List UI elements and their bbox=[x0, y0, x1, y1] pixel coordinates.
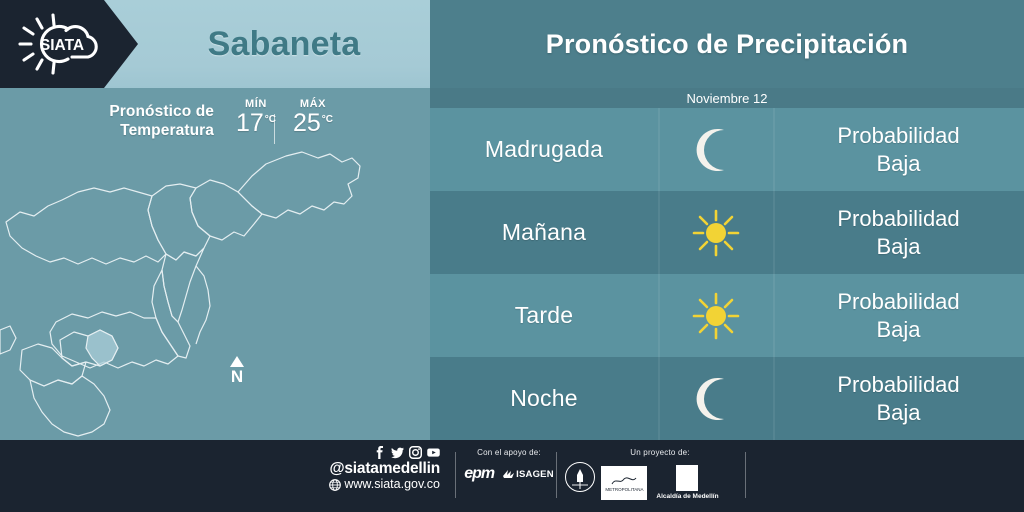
probability-label: ProbabilidadBaja bbox=[837, 371, 959, 427]
precipitation-title: Pronóstico de Precipitación bbox=[430, 0, 1024, 88]
forecast-period-cell: Noche bbox=[430, 357, 658, 440]
svg-text:SIATA: SIATA bbox=[40, 37, 84, 54]
north-arrow-icon bbox=[230, 356, 244, 367]
epm-logo: epm bbox=[464, 465, 494, 483]
support-caption: Con el apoyo de: bbox=[468, 448, 550, 457]
column-divider bbox=[773, 108, 775, 440]
column-divider bbox=[658, 108, 660, 440]
temperature-label: Pronóstico de Temperatura bbox=[62, 102, 214, 140]
temperature-max-value: 25°C bbox=[277, 109, 349, 138]
project-logos: METROPOLITANA Alcaldía de Medellín bbox=[580, 465, 740, 500]
alcaldia-logo: Alcaldía de Medellín bbox=[656, 465, 718, 500]
website-label: www.siata.gov.co bbox=[344, 477, 440, 492]
globe-icon bbox=[329, 479, 341, 491]
probability-label: ProbabilidadBaja bbox=[837, 122, 959, 178]
forecast-period-cell: Tarde bbox=[430, 274, 658, 357]
north-arrow: N bbox=[226, 356, 248, 396]
moon-icon bbox=[690, 124, 742, 176]
sun-icon bbox=[690, 290, 742, 342]
forecast-row: Noche ProbabilidadBaja bbox=[430, 357, 1024, 440]
area-metropolitana-logo: METROPOLITANA bbox=[601, 466, 647, 500]
siata-sun-cloud-logo: SIATA bbox=[10, 11, 116, 77]
left-panel: SIATA Sabaneta Pronóstico de Temperatura… bbox=[0, 0, 430, 440]
support-logos: epm ISAGEN bbox=[468, 465, 550, 483]
forecast-icon-cell bbox=[658, 357, 773, 440]
youtube-icon[interactable] bbox=[427, 446, 440, 459]
forecast-probability-cell: ProbabilidadBaja bbox=[773, 108, 1024, 191]
alcaldia-label: Alcaldía de Medellín bbox=[656, 493, 718, 500]
north-arrow-label: N bbox=[226, 368, 248, 386]
isagen-mark-icon bbox=[503, 469, 514, 479]
probability-label: ProbabilidadBaja bbox=[837, 205, 959, 261]
period-label: Noche bbox=[510, 385, 577, 412]
project-caption: Un proyecto de: bbox=[580, 448, 740, 457]
precipitation-panel: Pronóstico de Precipitación Noviembre 12… bbox=[430, 0, 1024, 440]
temperature-divider bbox=[274, 114, 275, 144]
social-icons bbox=[300, 446, 440, 459]
forecast-icon-cell bbox=[658, 274, 773, 357]
forecast-probability-cell: ProbabilidadBaja bbox=[773, 274, 1024, 357]
social-block: @siatamedellin www.siata.gov.co bbox=[300, 446, 440, 492]
aburra-valley-map bbox=[0, 144, 430, 440]
isagen-logo: ISAGEN bbox=[503, 469, 554, 480]
alcaldia-crest-icon bbox=[676, 465, 698, 491]
temperature-label-line2: Temperatura bbox=[120, 122, 214, 139]
sun-icon bbox=[690, 207, 742, 259]
footer-divider bbox=[556, 452, 557, 498]
support-group: Con el apoyo de: epm ISAGEN bbox=[468, 448, 550, 483]
forecast-rows: Madrugada ProbabilidadBaja Mañana bbox=[430, 108, 1024, 440]
forecast-row: Mañana bbox=[430, 191, 1024, 274]
period-label: Mañana bbox=[502, 219, 586, 246]
twitter-icon[interactable] bbox=[391, 446, 404, 459]
footer: @siatamedellin www.siata.gov.co Con el a… bbox=[0, 440, 1024, 512]
forecast-icon-cell bbox=[658, 191, 773, 274]
map-panel: Pronóstico de Temperatura MÍN 17°C MÁX 2… bbox=[0, 88, 430, 440]
forecast-period-cell: Mañana bbox=[430, 191, 658, 274]
social-handle[interactable]: @siatamedellin bbox=[300, 460, 440, 477]
temperature-label-line1: Pronóstico de bbox=[109, 103, 214, 120]
forecast-probability-cell: ProbabilidadBaja bbox=[773, 191, 1024, 274]
instagram-icon[interactable] bbox=[409, 446, 422, 459]
forecast-icon-cell bbox=[658, 108, 773, 191]
project-group: Un proyecto de: METROPOLITANA Alcaldía d… bbox=[580, 448, 740, 500]
map-highlight-sabaneta bbox=[86, 330, 118, 366]
period-label: Tarde bbox=[515, 302, 574, 329]
city-name: Sabaneta bbox=[138, 0, 430, 88]
area-logo-text: METROPOLITANA bbox=[605, 487, 643, 492]
footer-divider bbox=[745, 452, 746, 498]
period-label: Madrugada bbox=[485, 136, 603, 163]
forecast-row: Tarde bbox=[430, 274, 1024, 357]
probability-label: ProbabilidadBaja bbox=[837, 288, 959, 344]
weather-infographic: SIATA Sabaneta Pronóstico de Temperatura… bbox=[0, 0, 1024, 512]
forecast-period-cell: Madrugada bbox=[430, 108, 658, 191]
website-link[interactable]: www.siata.gov.co bbox=[300, 477, 440, 492]
forecast-row: Madrugada ProbabilidadBaja bbox=[430, 108, 1024, 191]
footer-divider bbox=[455, 452, 456, 498]
area-signature-icon bbox=[611, 474, 637, 487]
facebook-icon[interactable] bbox=[373, 446, 386, 459]
temperature-max-unit: °C bbox=[322, 114, 333, 125]
temperature-max: MÁX 25°C bbox=[277, 98, 349, 138]
forecast-probability-cell: ProbabilidadBaja bbox=[773, 357, 1024, 440]
moon-icon bbox=[690, 373, 742, 425]
forecast-date: Noviembre 12 bbox=[430, 88, 1024, 108]
